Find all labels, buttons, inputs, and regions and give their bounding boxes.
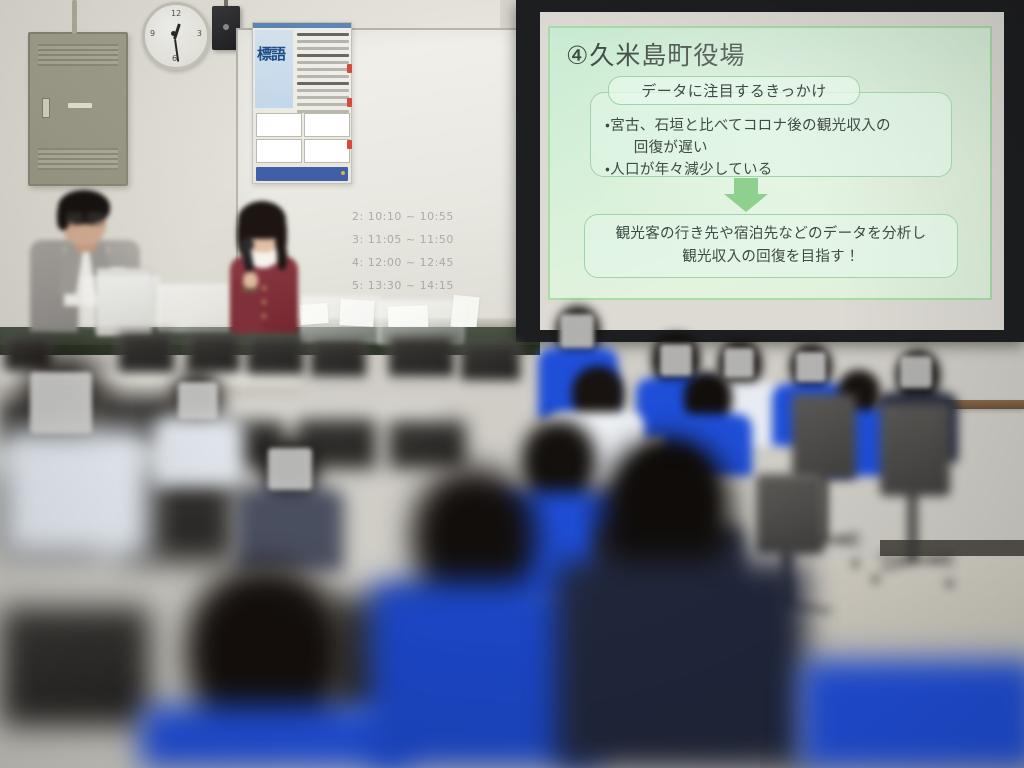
slide-conclusion-box: 観光客の行き先や宿泊先などのデータを分析し 観光収入の回復を目指す！ (584, 214, 958, 278)
speaker-cone-icon (223, 24, 229, 30)
poster-footer-band (256, 167, 348, 181)
poster-headline: 標語 (257, 47, 289, 61)
computer-monitor (460, 342, 520, 380)
conclusion-line: 観光収入の回復を目指す！ (682, 246, 860, 269)
face-mosaic (796, 352, 826, 382)
computer-monitor (186, 334, 240, 372)
computer-monitor (246, 336, 304, 374)
clock-numeral-3: 3 (197, 29, 202, 38)
poster-tab-icon (347, 64, 352, 73)
whiteboard-schedule: 2: 10:10 ~ 10:55 3: 11:05 ~ 11:50 4: 12:… (352, 205, 532, 297)
poster-tab-icon (347, 98, 352, 107)
presentation-slide: ④久米島町役場 ・宮古、石垣と比べてコロナ後の観光収入の 回復が遅い ・人口が年… (548, 26, 992, 300)
wristwatch-icon (242, 288, 258, 293)
acrylic-shield (300, 296, 380, 342)
slide-cue-label: データに注目するきっかけ (608, 76, 860, 105)
face-mosaic (660, 344, 692, 376)
face-mosaic (560, 314, 594, 348)
face-mosaic (178, 382, 218, 420)
clock-center-pin (171, 31, 176, 36)
slide-bullet: 回復が遅い (605, 137, 937, 159)
poster-tab-icon (347, 140, 352, 149)
schedule-line: 3: 11:05 ~ 11:50 (352, 228, 532, 251)
schedule-line: 4: 12:00 ~ 12:45 (352, 251, 532, 274)
poster-hero-area (255, 30, 293, 108)
clock-numeral-12: 12 (171, 9, 181, 18)
panel-latch (42, 98, 50, 118)
acrylic-shield (82, 276, 160, 326)
face-mosaic (268, 448, 312, 490)
poster-seal-icon (341, 171, 345, 175)
face-mosaic (30, 372, 92, 434)
panel-label (68, 103, 92, 108)
wall-clock: 12 3 6 9 (142, 2, 210, 70)
chair-caster (852, 560, 859, 567)
poster-info-boxes (256, 113, 348, 163)
computer-monitor (388, 420, 466, 468)
face-mosaic (900, 356, 932, 388)
face-mosaic (724, 348, 754, 378)
wall-poster: 標語 (252, 22, 352, 184)
chair-caster (946, 580, 953, 587)
computer-monitor (118, 332, 174, 372)
computer-monitor (0, 606, 150, 726)
computer-monitor (310, 340, 366, 376)
clock-numeral-9: 9 (150, 29, 155, 38)
slide-title: ④久米島町役場 (566, 36, 745, 72)
chair-caster (872, 576, 879, 583)
schedule-line: 5: 13:30 ~ 14:15 (352, 274, 532, 297)
electrical-panel (28, 32, 128, 186)
slide-bullet: ・宮古、石垣と比べてコロナ後の観光収入の (605, 115, 937, 137)
schedule-line: 2: 10:10 ~ 10:55 (352, 205, 532, 228)
acrylic-shield (158, 284, 230, 332)
panel-conduit (72, 0, 77, 34)
microphone-capsule-icon (241, 238, 254, 251)
conclusion-line: 観光客の行き先や宿泊先などのデータを分析し (616, 223, 927, 246)
computer-monitor (388, 336, 454, 376)
slide-bullet: ・人口が年々減少している (605, 159, 937, 181)
poster-text-column (297, 33, 349, 117)
photo-scene: 12 3 6 9 標語 2: (0, 0, 1024, 768)
poster-header-band (253, 23, 351, 28)
glasses-icon (66, 212, 104, 223)
